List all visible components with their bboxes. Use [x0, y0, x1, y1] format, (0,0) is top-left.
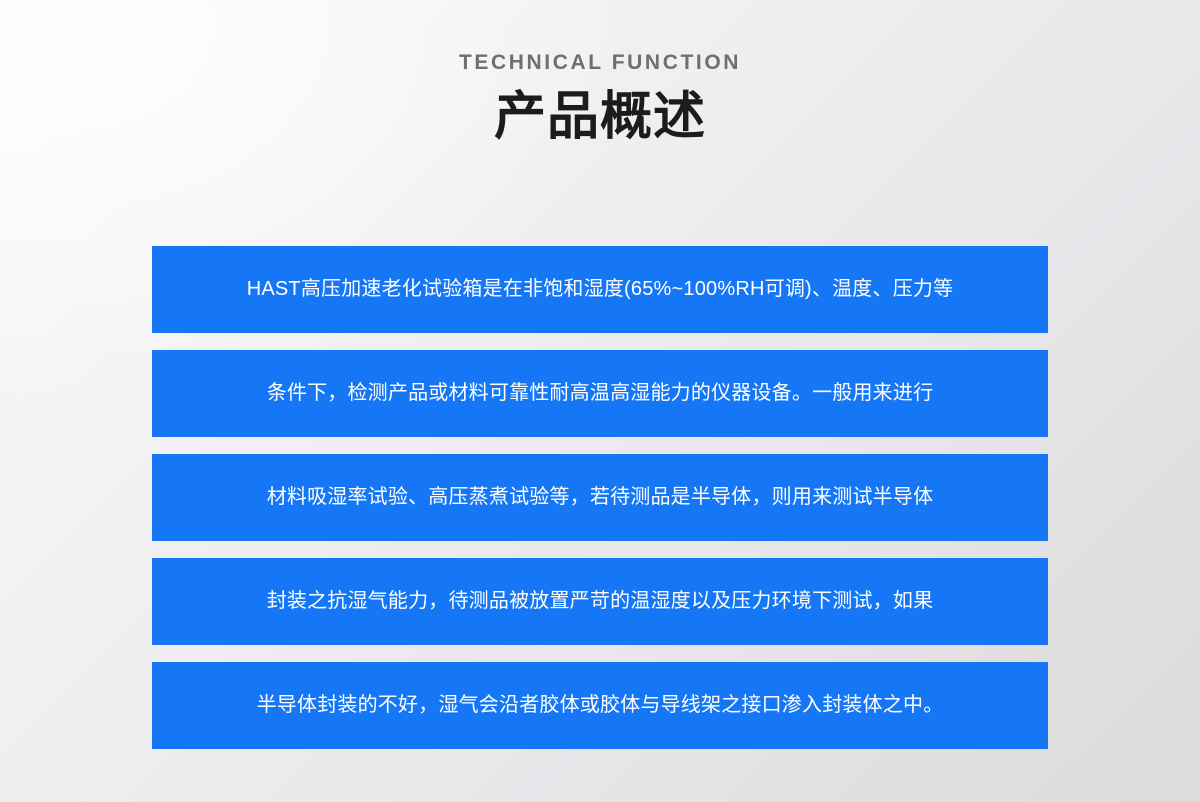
- page-title: 产品概述: [0, 89, 1200, 145]
- section-eyebrow-label: TECHNICAL FUNCTION: [0, 52, 1200, 73]
- page-header: TECHNICAL FUNCTION 产品概述: [0, 0, 1200, 145]
- description-bar-text: HAST高压加速老化试验箱是在非饱和湿度(65%~100%RH可调)、温度、压力…: [247, 275, 954, 304]
- description-bar-text: 封装之抗湿气能力，待测品被放置严苛的温湿度以及压力环境下测试，如果: [267, 587, 934, 616]
- description-bar: 材料吸湿率试验、高压蒸煮试验等，若待测品是半导体，则用来测试半导体: [152, 454, 1048, 541]
- description-bar-list: HAST高压加速老化试验箱是在非饱和湿度(65%~100%RH可调)、温度、压力…: [152, 180, 1048, 749]
- description-bar: 封装之抗湿气能力，待测品被放置严苛的温湿度以及压力环境下测试，如果: [152, 558, 1048, 645]
- description-bar-text: 材料吸湿率试验、高压蒸煮试验等，若待测品是半导体，则用来测试半导体: [267, 483, 934, 512]
- description-bar: HAST高压加速老化试验箱是在非饱和湿度(65%~100%RH可调)、温度、压力…: [152, 246, 1048, 333]
- description-bar: 半导体封装的不好，湿气会沿者胶体或胶体与导线架之接口渗入封装体之中。: [152, 662, 1048, 749]
- description-bar-text: 条件下，检测产品或材料可靠性耐高温高湿能力的仪器设备。一般用来进行: [267, 379, 934, 408]
- description-bar: 条件下，检测产品或材料可靠性耐高温高湿能力的仪器设备。一般用来进行: [152, 350, 1048, 437]
- product-overview-page: TECHNICAL FUNCTION 产品概述 HAST高压加速老化试验箱是在非…: [0, 0, 1200, 802]
- description-bar-text: 半导体封装的不好，湿气会沿者胶体或胶体与导线架之接口渗入封装体之中。: [257, 691, 944, 720]
